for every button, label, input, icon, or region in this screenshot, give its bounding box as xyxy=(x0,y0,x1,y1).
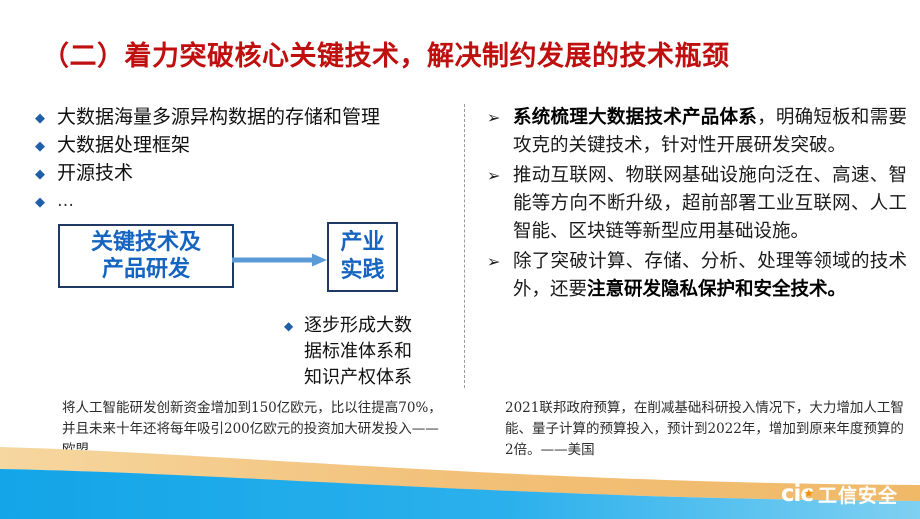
diagram-box-key-line2: 产品研发 xyxy=(91,256,201,283)
diamond-bullet-icon: ◆ xyxy=(30,132,57,159)
list-item-label: 大数据海量多源异构数据的存储和管理 xyxy=(57,104,380,131)
logo-mark: cic★ xyxy=(781,481,813,507)
list-item: ◆ 大数据处理框架 xyxy=(30,132,455,159)
list-item: ◆ 开源技术 xyxy=(30,160,455,187)
list-item-text: 推动互联网、物联网基础设施向泛在、高速、智能等方向不断升级，超前部署工业互联网、… xyxy=(513,165,907,242)
diamond-bullet-icon: ◆ xyxy=(30,160,57,187)
list-item-label: 系统梳理大数据技术产品体系，明确短板和需要攻克的关键技术，针对性开展研发突破。 xyxy=(513,104,907,160)
right-bullet-list: ➢ 系统梳理大数据技术产品体系，明确短板和需要攻克的关键技术，针对性开展研发突破… xyxy=(487,104,907,306)
list-item: ➢ 系统梳理大数据技术产品体系，明确短板和需要攻克的关键技术，针对性开展研发突破… xyxy=(487,104,907,160)
diamond-bullet-icon: ◆ xyxy=(284,313,304,339)
diamond-bullet-icon: ◆ xyxy=(30,104,57,131)
arrow-right-icon xyxy=(232,252,328,268)
arrow-bullet-icon: ➢ xyxy=(487,104,513,132)
sub-bullet-item: ◆ 逐步形成大数 据标准体系和 知识产权体系 xyxy=(284,313,459,391)
list-item-emphasis: 系统梳理大数据技术产品体系 xyxy=(513,107,757,128)
diamond-bullet-icon: ◆ xyxy=(30,188,57,215)
slide-canvas: （二）着力突破核心关键技术，解决制约发展的技术瓶颈 ◆ 大数据海量多源异构数据的… xyxy=(0,0,920,519)
sub-bullet-line2: 据标准体系和 xyxy=(304,341,412,362)
list-item: ➢ 推动互联网、物联网基础设施向泛在、高速、智能等方向不断升级，超前部署工业互联… xyxy=(487,162,907,246)
diagram-box-key-line1: 关键技术及 xyxy=(91,229,201,256)
diagram-box-industry-practice[interactable]: 产业 实践 xyxy=(327,222,398,292)
list-item-label: 除了突破计算、存储、分析、处理等领域的技术外，还要注意研发隐私保护和安全技术。 xyxy=(513,248,907,304)
star-icon: ★ xyxy=(804,488,813,499)
list-item-label: 推动互联网、物联网基础设施向泛在、高速、智能等方向不断升级，超前部署工业互联网、… xyxy=(513,162,907,246)
sub-bullet-label: 逐步形成大数 据标准体系和 知识产权体系 xyxy=(304,313,412,391)
list-item-label: … xyxy=(57,188,76,215)
list-item: ◆ … xyxy=(30,188,455,215)
sub-bullet-line3: 知识产权体系 xyxy=(304,367,412,388)
list-item-label: 大数据处理框架 xyxy=(57,132,190,159)
brand-logo: cic★ 工信安全 xyxy=(781,481,898,507)
list-item-label: 开源技术 xyxy=(57,160,133,187)
list-item: ➢ 除了突破计算、存储、分析、处理等领域的技术外，还要注意研发隐私保护和安全技术… xyxy=(487,248,907,304)
arrow-bullet-icon: ➢ xyxy=(487,162,513,190)
left-bullet-list: ◆ 大数据海量多源异构数据的存储和管理 ◆ 大数据处理框架 ◆ 开源技术 ◆ … xyxy=(30,104,455,216)
diagram-box-industry-line2: 实践 xyxy=(340,257,384,285)
list-item-emphasis: 注意研发隐私保护和安全技术。 xyxy=(587,279,846,300)
column-divider xyxy=(464,104,465,388)
diagram-box-industry-line1: 产业 xyxy=(340,229,384,257)
list-item: ◆ 大数据海量多源异构数据的存储和管理 xyxy=(30,104,455,131)
page-title: （二）着力突破核心关键技术，解决制约发展的技术瓶颈 xyxy=(42,34,882,73)
diagram-box-key-technology[interactable]: 关键技术及 产品研发 xyxy=(58,224,234,288)
sub-bullet-line1: 逐步形成大数 xyxy=(304,315,412,336)
footer-decoration xyxy=(0,439,920,519)
arrow-bullet-icon: ➢ xyxy=(487,248,513,276)
logo-name: 工信安全 xyxy=(818,481,898,508)
